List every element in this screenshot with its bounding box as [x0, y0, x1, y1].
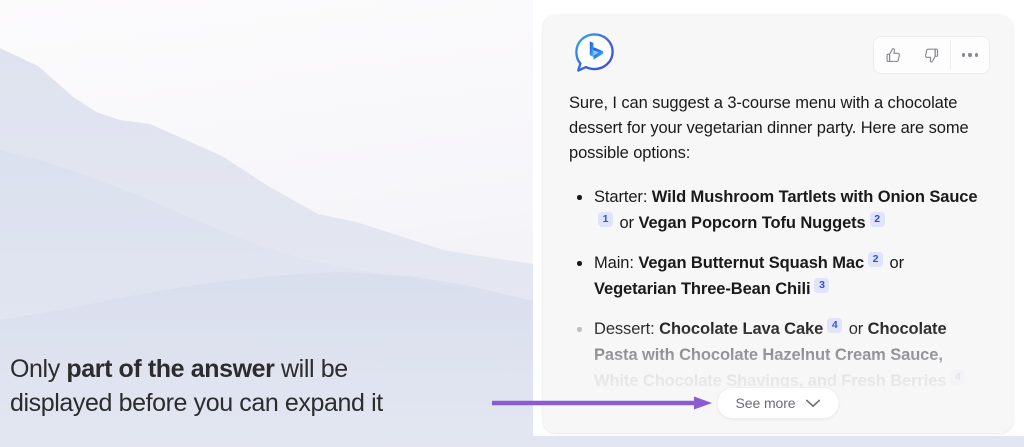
see-more-button[interactable]: See more	[717, 387, 840, 419]
thumbs-up-button[interactable]	[874, 37, 912, 73]
connector-or: or	[849, 320, 863, 338]
citation-badge[interactable]: 4	[950, 370, 965, 385]
card-header	[543, 15, 1013, 91]
annotation-line1-before: Only	[10, 355, 66, 383]
starter-option-a: Wild Mushroom Tartlets with Onion Sauce	[652, 188, 978, 206]
list-item: Main: Vegan Butternut Squash Mac2 or Veg…	[569, 250, 987, 302]
annotation-emphasis: part of the answer	[66, 355, 274, 383]
feedback-button-group	[873, 36, 990, 74]
connector-or: or	[890, 254, 904, 272]
bing-chat-logo	[571, 30, 618, 77]
thumbs-up-icon	[884, 46, 903, 65]
dessert-option-b-line2: Pasta with Chocolate Hazelnut Cream Sauc…	[594, 346, 943, 364]
answer-body: Sure, I can suggest a 3-course menu with…	[543, 91, 1013, 394]
bing-chat-answer-card: Sure, I can suggest a 3-course menu with…	[543, 15, 1013, 433]
citation-badge[interactable]: 3	[814, 278, 829, 293]
annotation-line1-after: will be	[274, 355, 347, 383]
main-option-a: Vegan Butternut Squash Mac	[638, 254, 864, 272]
chevron-down-icon	[805, 399, 820, 408]
course-label-main: Main:	[594, 254, 634, 272]
annotation-text: Only part of the answer will be displaye…	[10, 352, 480, 420]
thumbs-down-icon	[922, 46, 941, 65]
citation-badge[interactable]: 2	[868, 252, 883, 267]
ellipsis-icon	[962, 53, 979, 56]
menu-suggestion-list: Starter: Wild Mushroom Tartlets with Oni…	[569, 184, 987, 394]
dessert-option-a: Chocolate Lava Cake	[659, 320, 823, 338]
annotation-line2: displayed before you can expand it	[10, 389, 383, 417]
course-label-starter: Starter:	[594, 188, 647, 206]
annotation-arrow	[490, 395, 716, 411]
thumbs-down-button[interactable]	[912, 37, 950, 73]
list-item: Starter: Wild Mushroom Tartlets with Oni…	[569, 184, 987, 236]
answer-intro-text: Sure, I can suggest a 3-course menu with…	[569, 91, 987, 166]
citation-badge[interactable]: 2	[870, 212, 885, 227]
citation-badge[interactable]: 4	[827, 318, 842, 333]
connector-or: or	[619, 214, 633, 232]
course-label-dessert: Dessert:	[594, 320, 655, 338]
more-options-button[interactable]	[951, 37, 989, 73]
main-option-b: Vegetarian Three-Bean Chili	[594, 280, 810, 298]
dessert-option-b-line1: Chocolate	[868, 320, 947, 338]
citation-badge[interactable]: 1	[598, 212, 613, 227]
starter-option-b: Vegan Popcorn Tofu Nuggets	[638, 214, 865, 232]
list-item: Dessert: Chocolate Lava Cake4 or Chocola…	[569, 316, 987, 394]
see-more-label: See more	[736, 395, 796, 411]
